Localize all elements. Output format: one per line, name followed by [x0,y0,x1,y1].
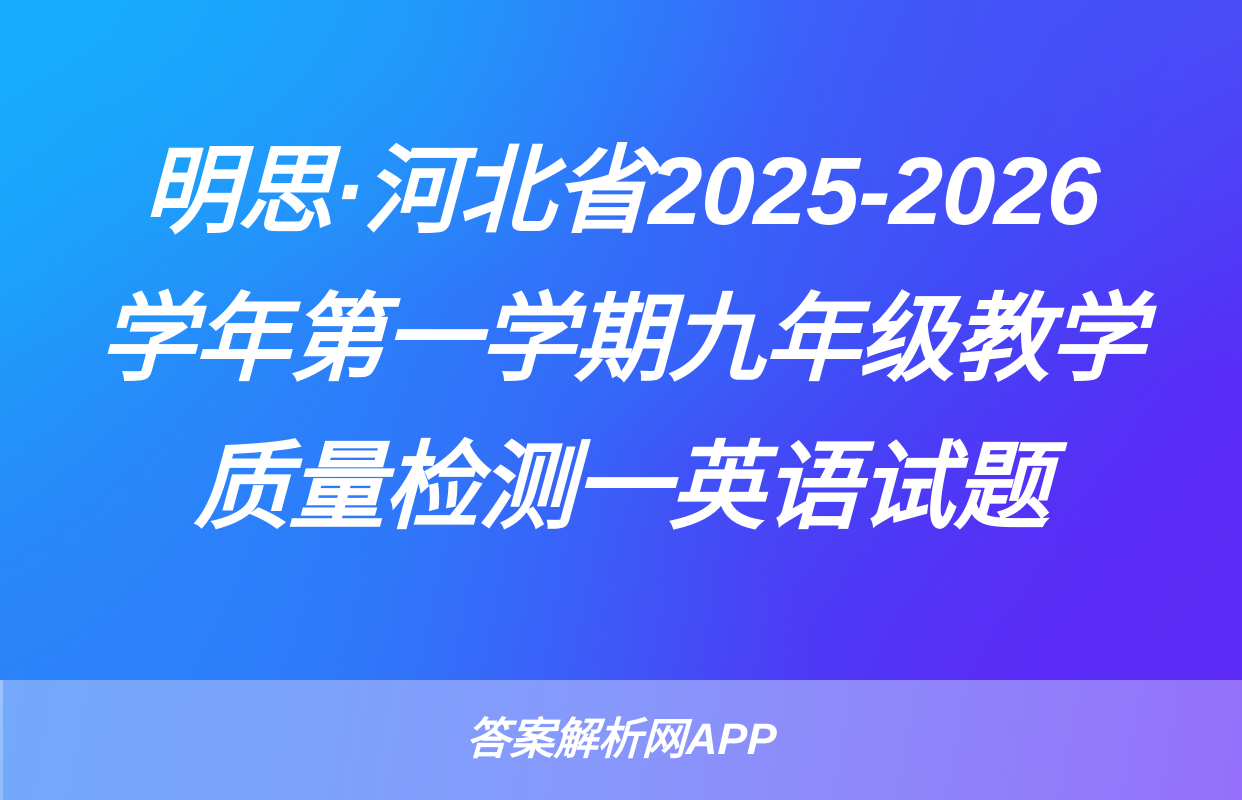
band-left-edge-accent [0,680,3,800]
page-title: 明思·河北省2025-2026 学年第一学期九年级教学 质量检测一英语试题 [0,0,1242,680]
watermark-brand-label: 答案解析网APP [465,715,777,765]
title-line-2: 学年第一学期九年级教学 [97,266,1145,414]
title-line-3: 质量检测一英语试题 [192,414,1050,562]
watermark-band: 答案解析网APP [0,680,1242,800]
title-line-1: 明思·河北省2025-2026 [142,118,1101,266]
title-card: 明思·河北省2025-2026 学年第一学期九年级教学 质量检测一英语试题 答案… [0,0,1242,800]
